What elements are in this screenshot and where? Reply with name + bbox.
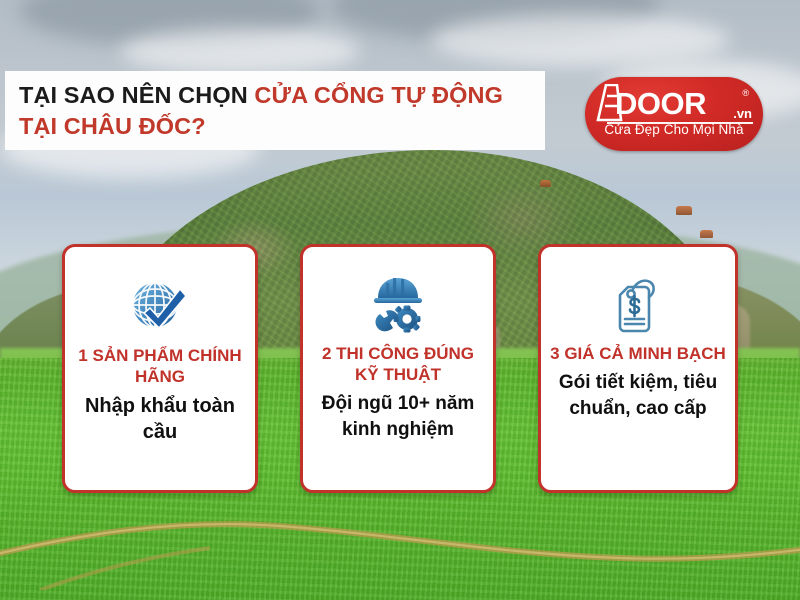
adoor-logo[interactable]: DOOR ® .vn Cửa Đẹp Cho Mọi Nhà (585, 77, 763, 151)
registered-icon: ® (742, 88, 749, 98)
hardhat-wrench-gear-icon (366, 267, 430, 343)
banner-canvas: TẠI SAO NÊN CHỌN CỬA CỔNG TỰ ĐỘNG TẠI CH… (0, 0, 800, 600)
logo-tagline: Cửa Đẹp Cho Mọi Nhà (585, 122, 763, 137)
feature-card-1[interactable]: 1 SẢN PHẨM CHÍNH HÃNG Nhập khẩu toàn cầu (62, 244, 258, 493)
field-path (0, 500, 800, 590)
price-tag-dollar-icon (609, 267, 667, 343)
hilltop-temple (540, 180, 551, 187)
logo-inner: DOOR ® .vn Cửa Đẹp Cho Mọi Nhà (585, 77, 763, 151)
hilltop-temple (700, 230, 713, 238)
card-subtitle: Nhập khẩu toàn cầu (65, 393, 255, 445)
headline-line-2: TẠI CHÂU ĐỐC? (19, 111, 531, 142)
cloud-shape (430, 14, 730, 66)
hilltop-temple (676, 206, 692, 215)
card-subtitle: Đội ngũ 10+ năm kinh nghiệm (303, 391, 493, 443)
headline-banner: TẠI SAO NÊN CHỌN CỬA CỔNG TỰ ĐỘNG TẠI CH… (5, 71, 545, 150)
card-subtitle: Gói tiết kiệm, tiêu chuẩn, cao cấp (541, 370, 735, 422)
logo-wordmark: DOOR (615, 88, 706, 119)
feature-card-group: 1 SẢN PHẨM CHÍNH HÃNG Nhập khẩu toàn cầu (0, 244, 800, 494)
headline-prefix: TẠI SAO NÊN CHỌN (19, 82, 254, 108)
feature-card-3[interactable]: 3 GIÁ CẢ MINH BẠCH Gói tiết kiệm, tiêu c… (538, 244, 738, 493)
card-title: 3 GIÁ CẢ MINH BẠCH (544, 343, 732, 364)
globe-check-icon (128, 267, 192, 343)
headline-keyword: CỬA CỔNG TỰ ĐỘNG (254, 82, 503, 108)
card-title: 1 SẢN PHẨM CHÍNH HÃNG (65, 345, 255, 387)
logo-domain: .vn (733, 107, 752, 120)
headline-line-1: TẠI SAO NÊN CHỌN CỬA CỔNG TỰ ĐỘNG (19, 80, 531, 111)
cloud-shape (120, 28, 360, 74)
card-title: 2 THI CÔNG ĐÚNG KỸ THUẬT (303, 343, 493, 385)
feature-card-2[interactable]: 2 THI CÔNG ĐÚNG KỸ THUẬT Đội ngũ 10+ năm… (300, 244, 496, 493)
